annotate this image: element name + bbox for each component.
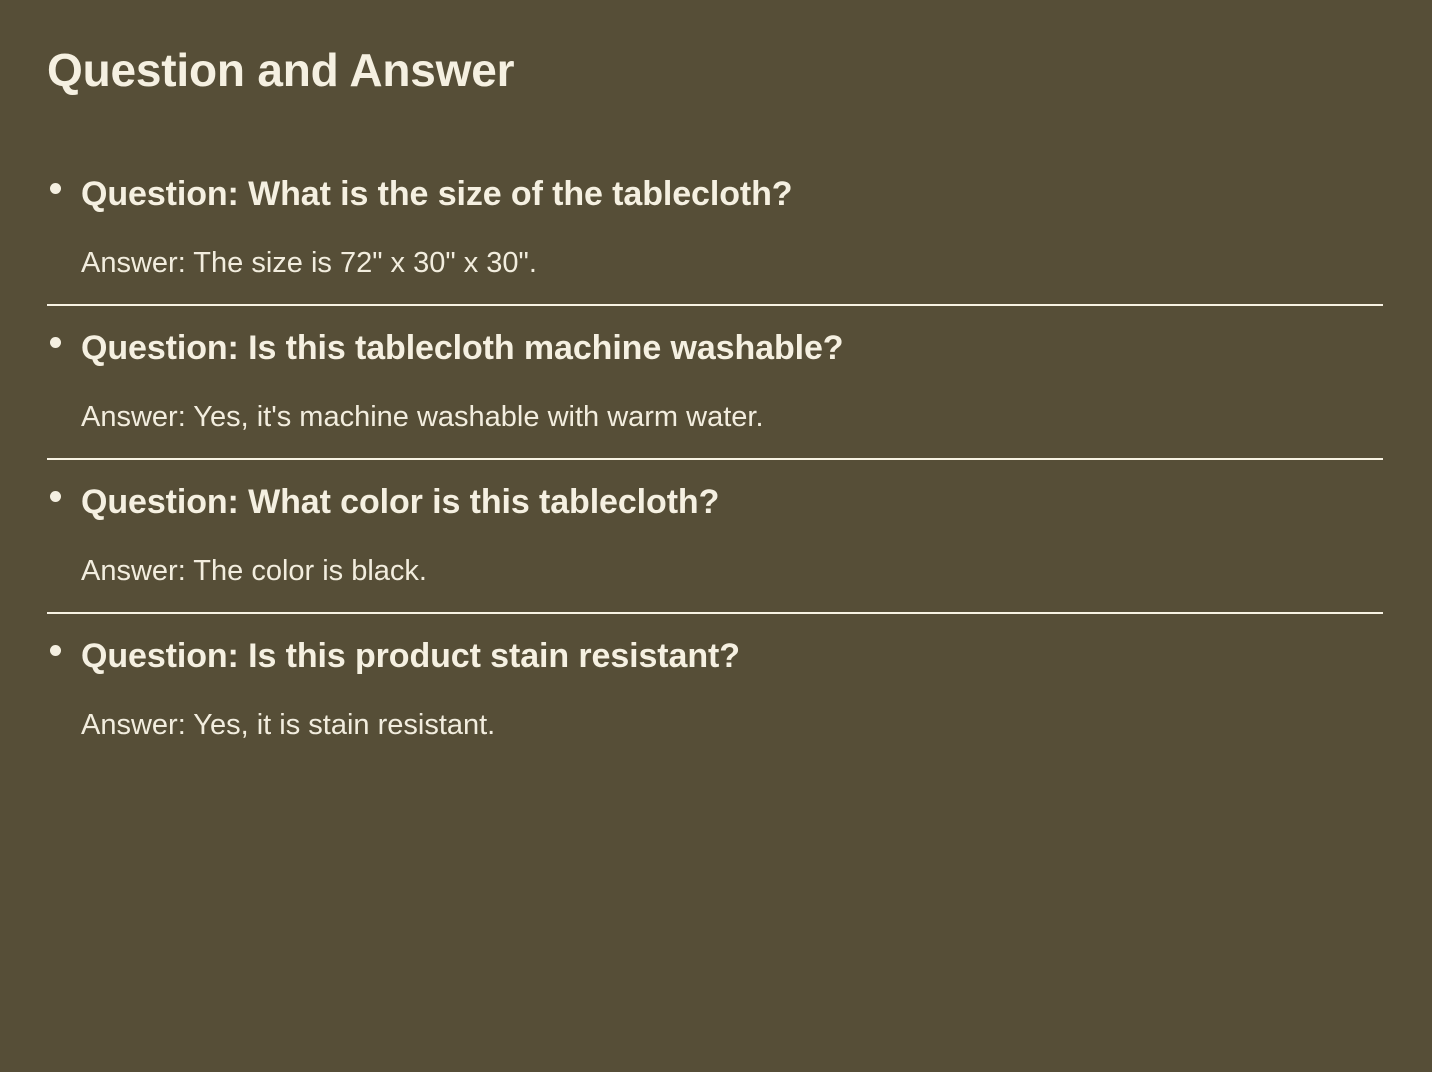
qa-question: Question: What color is this tablecloth? — [81, 460, 1385, 524]
qa-answer: Answer: The size is 72" x 30" x 30". — [81, 216, 1385, 304]
question-and-answer-page: Question and Answer Question: What is th… — [0, 0, 1432, 1072]
bullet-dot-icon — [50, 645, 61, 656]
qa-item: Question: Is this product stain resistan… — [0, 614, 1432, 745]
bullet-dot-icon — [50, 183, 61, 194]
qa-answer: Answer: Yes, it's machine washable with … — [81, 370, 1385, 458]
qa-question: Question: Is this tablecloth machine was… — [81, 306, 1385, 370]
bullet-dot-icon — [50, 337, 61, 348]
qa-answer: Answer: Yes, it is stain resistant. — [81, 678, 1385, 745]
qa-item: Question: What color is this tablecloth?… — [0, 460, 1432, 612]
qa-list: Question: What is the size of the tablec… — [0, 152, 1432, 745]
qa-item: Question: What is the size of the tablec… — [0, 152, 1432, 304]
qa-question: Question: Is this product stain resistan… — [81, 614, 1385, 678]
qa-answer: Answer: The color is black. — [81, 524, 1385, 612]
qa-item: Question: Is this tablecloth machine was… — [0, 306, 1432, 458]
bullet-dot-icon — [50, 491, 61, 502]
page-title: Question and Answer — [47, 44, 514, 97]
qa-question: Question: What is the size of the tablec… — [81, 152, 1385, 216]
